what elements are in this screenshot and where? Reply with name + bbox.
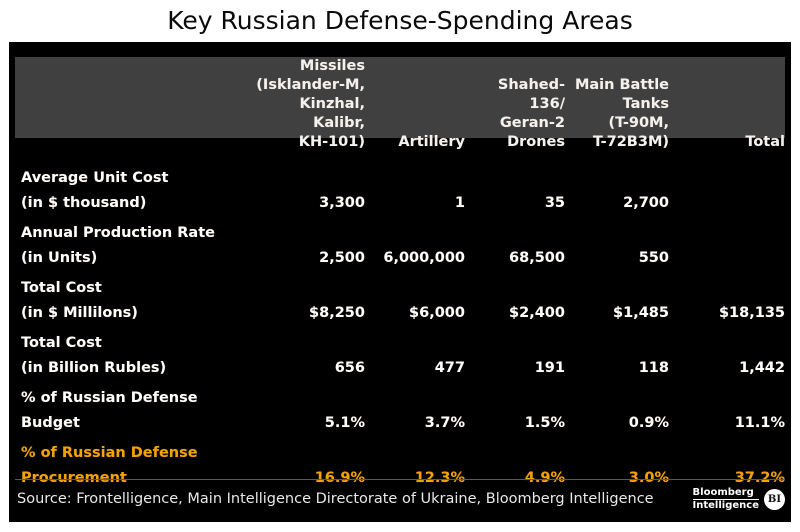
page-title: Key Russian Defense-Spending Areas <box>0 4 800 38</box>
cell-tanks: 3.0% <box>565 436 669 491</box>
row-label-total-cost-rubles: Total Cost (in Billion Rubles) <box>15 326 255 381</box>
header-spacer <box>15 152 785 161</box>
logo-line-bloomberg: Bloomberg <box>693 487 759 500</box>
cell-tanks: 2,700 <box>565 161 669 216</box>
source-note: Source: Frontelligence, Main Intelligenc… <box>17 488 707 510</box>
table-row: Total Cost (in $ Millilons) $8,250 $6,00… <box>15 271 785 326</box>
table-wrap: Missiles (Isklander-M, Kinzhal, Kalibr, … <box>9 42 791 522</box>
cell-total <box>669 216 785 271</box>
cell-tanks: 0.9% <box>565 381 669 436</box>
row-label-percent-defense-procurement: % of Russian Defense Procurement <box>15 436 255 491</box>
table-row: Total Cost (in Billion Rubles) 656 477 1… <box>15 326 785 381</box>
cell-tanks: 118 <box>565 326 669 381</box>
column-header-tanks: Main Battle Tanks (T-90M, T-72B3M) <box>565 57 669 152</box>
cell-missiles: 16.9% <box>255 436 365 491</box>
cell-total: $18,135 <box>669 271 785 326</box>
cell-total: 11.1% <box>669 381 785 436</box>
row-label-percent-defense-budget: % of Russian Defense Budget <box>15 381 255 436</box>
row-label-annual-production-rate: Annual Production Rate (in Units) <box>15 216 255 271</box>
column-header-total: Total <box>669 57 785 152</box>
cell-artillery: 6,000,000 <box>365 216 465 271</box>
cell-total <box>669 161 785 216</box>
cell-artillery: $6,000 <box>365 271 465 326</box>
cell-total: 1,442 <box>669 326 785 381</box>
bloomberg-intelligence-logo: Bloomberg Intelligence BI <box>693 484 785 514</box>
cell-missiles: 2,500 <box>255 216 365 271</box>
logo-line-intelligence: Intelligence <box>693 500 759 512</box>
header-row: Missiles (Isklander-M, Kinzhal, Kalibr, … <box>15 57 785 152</box>
table-body: Average Unit Cost (in $ thousand) 3,300 … <box>15 152 785 491</box>
chart-page: Key Russian Defense-Spending Areas Missi… <box>0 0 800 532</box>
column-header-drones: Shahed- 136/ Geran-2 Drones <box>465 57 565 152</box>
column-header-artillery: Artillery <box>365 57 465 152</box>
table-head: Missiles (Isklander-M, Kinzhal, Kalibr, … <box>15 57 785 152</box>
cell-missiles: 656 <box>255 326 365 381</box>
cell-drones: 1.5% <box>465 381 565 436</box>
row-label-total-cost-dollars: Total Cost (in $ Millilons) <box>15 271 255 326</box>
cell-drones: 191 <box>465 326 565 381</box>
cell-artillery: 3.7% <box>365 381 465 436</box>
table-panel: Missiles (Isklander-M, Kinzhal, Kalibr, … <box>9 42 791 522</box>
cell-drones: 35 <box>465 161 565 216</box>
cell-tanks: 550 <box>565 216 669 271</box>
table-row-highlighted: % of Russian Defense Procurement 16.9% 1… <box>15 436 785 491</box>
cell-artillery: 12.3% <box>365 436 465 491</box>
spending-table: Missiles (Isklander-M, Kinzhal, Kalibr, … <box>15 57 785 491</box>
column-header-missiles: Missiles (Isklander-M, Kinzhal, Kalibr, … <box>255 57 365 152</box>
footer-divider <box>15 479 785 480</box>
cell-tanks: $1,485 <box>565 271 669 326</box>
cell-missiles: 5.1% <box>255 381 365 436</box>
column-header-label <box>15 57 255 152</box>
cell-artillery: 1 <box>365 161 465 216</box>
row-label-average-unit-cost: Average Unit Cost (in $ thousand) <box>15 161 255 216</box>
cell-missiles: 3,300 <box>255 161 365 216</box>
cell-total: 37.2% <box>669 436 785 491</box>
cell-artillery: 477 <box>365 326 465 381</box>
cell-missiles: $8,250 <box>255 271 365 326</box>
table-row: Annual Production Rate (in Units) 2,500 … <box>15 216 785 271</box>
cell-drones: 4.9% <box>465 436 565 491</box>
cell-drones: $2,400 <box>465 271 565 326</box>
table-row: % of Russian Defense Budget 5.1% 3.7% 1.… <box>15 381 785 436</box>
table-row: Average Unit Cost (in $ thousand) 3,300 … <box>15 161 785 216</box>
cell-drones: 68,500 <box>465 216 565 271</box>
bi-badge-icon: BI <box>764 489 785 510</box>
logo-wordmark: Bloomberg Intelligence <box>693 487 759 512</box>
